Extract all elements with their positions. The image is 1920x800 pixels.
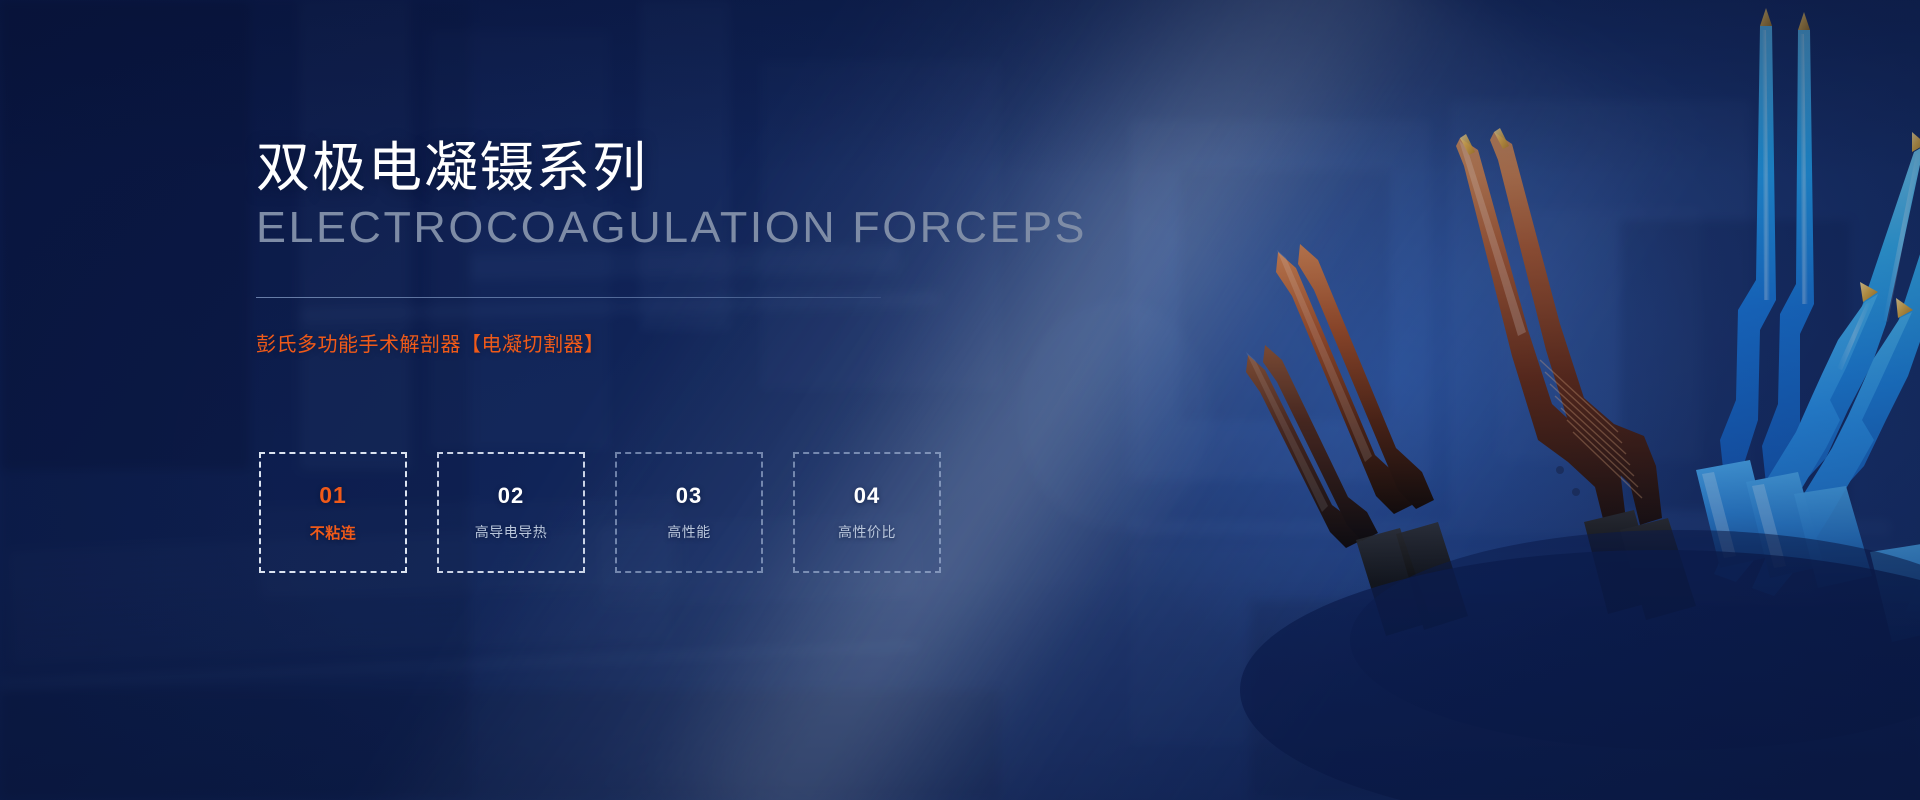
feature-card-02[interactable]: 02 高导电导热 xyxy=(437,452,585,573)
feature-number: 03 xyxy=(676,483,702,509)
feature-number: 01 xyxy=(319,482,347,509)
feature-number: 02 xyxy=(498,483,524,509)
page-title: 双极电凝镊系列 xyxy=(256,138,648,198)
feature-label: 高性能 xyxy=(667,522,711,542)
product-tagline: 彭氏多功能手术解剖器【电凝切割器】 xyxy=(256,332,605,358)
feature-list: 01 不粘连 02 高导电导热 03 高性能 04 高性价比 xyxy=(259,452,941,573)
title-divider xyxy=(256,297,881,298)
feature-card-03[interactable]: 03 高性能 xyxy=(615,452,763,573)
product-hero-banner: 双极电凝镊系列 ELECTROCOAGULATION FORCEPS 彭氏多功能… xyxy=(0,0,1920,800)
page-subtitle-english: ELECTROCOAGULATION FORCEPS xyxy=(256,205,1087,252)
banner-content: 双极电凝镊系列 ELECTROCOAGULATION FORCEPS 彭氏多功能… xyxy=(0,0,1920,800)
feature-label: 不粘连 xyxy=(310,522,357,543)
feature-label: 高性价比 xyxy=(838,522,896,542)
feature-card-04[interactable]: 04 高性价比 xyxy=(793,452,941,573)
feature-number: 04 xyxy=(854,483,880,509)
feature-card-01[interactable]: 01 不粘连 xyxy=(259,452,407,573)
feature-label: 高导电导热 xyxy=(475,522,548,542)
